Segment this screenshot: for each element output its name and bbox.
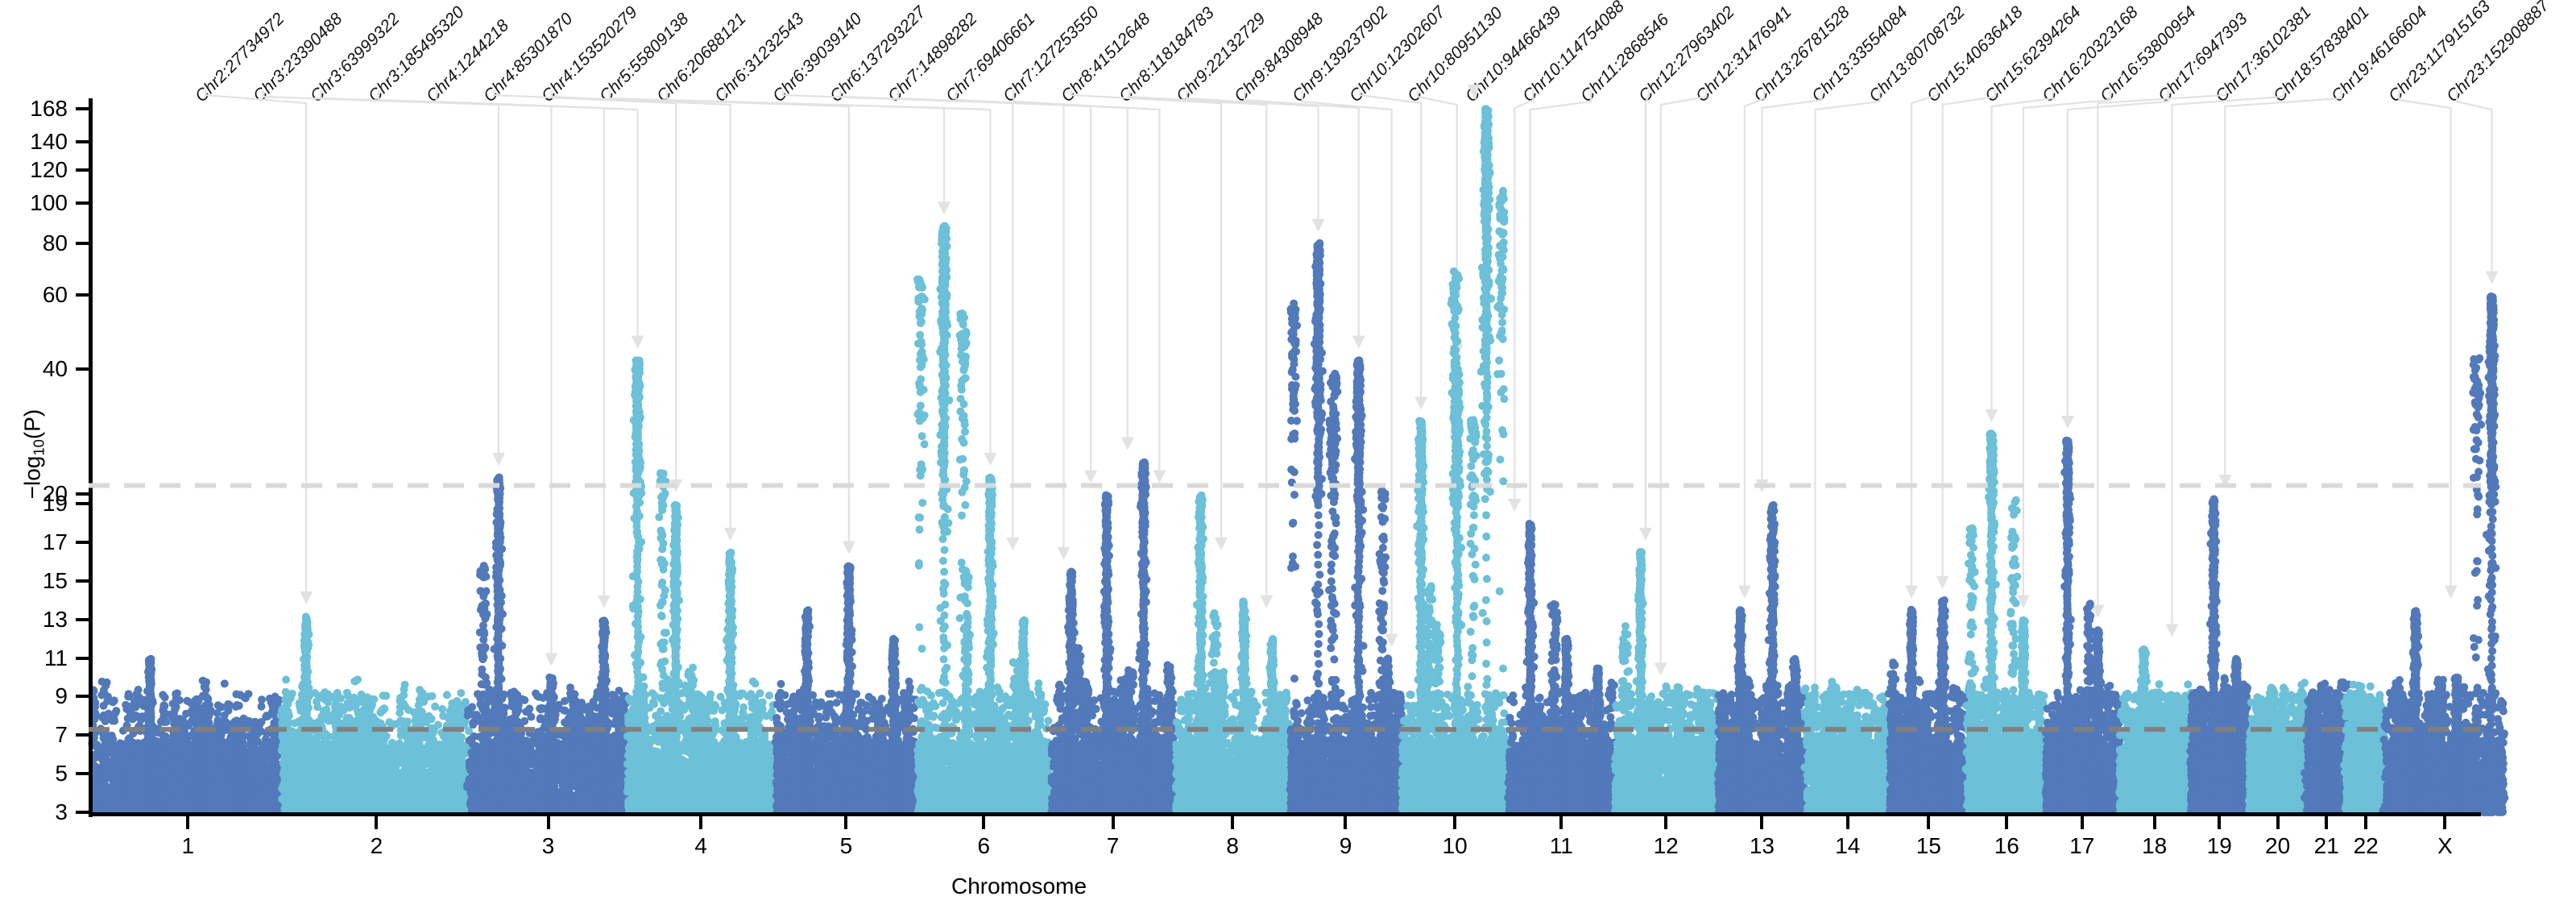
manhattan-plot-figure: Chr2:27734972Chr3:23390488Chr3:63999322C… — [0, 0, 2576, 913]
threshold-lines — [0, 0, 2576, 913]
